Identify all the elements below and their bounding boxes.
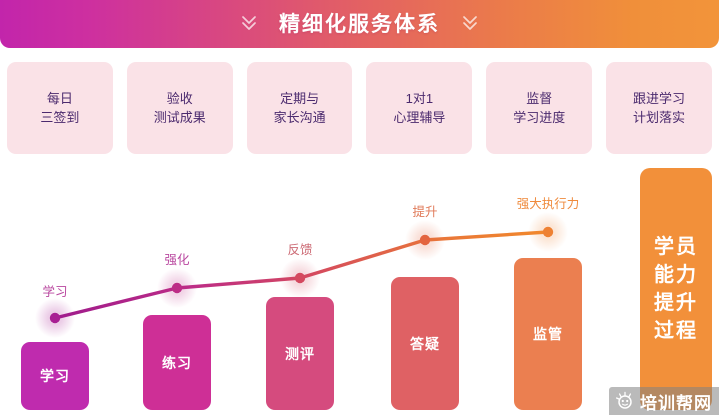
chart-bar[interactable]: 学习 [21, 342, 89, 410]
header-banner-inner: 精细化服务体系 [239, 8, 480, 38]
chart-bar-label: 练习 [162, 353, 192, 373]
chart-bar[interactable]: 监管 [514, 258, 582, 410]
chart-bar[interactable]: 练习 [143, 315, 211, 410]
data-point-marker[interactable] [50, 313, 60, 323]
service-card[interactable]: 定期与 家长沟通 [247, 62, 353, 154]
chart-bar-label: 测评 [285, 344, 315, 364]
summary-panel-line: 过程 [654, 317, 698, 345]
data-point-marker[interactable] [295, 273, 305, 283]
header-banner: 精细化服务体系 [0, 0, 719, 48]
data-point-label: 强化 [164, 249, 189, 268]
sun-face-icon [615, 391, 635, 411]
summary-panel-line: 提升 [654, 289, 698, 317]
service-card-line2: 计划落实 [633, 108, 685, 127]
chart-bar-label: 学习 [40, 366, 70, 386]
chart-bar-label: 答疑 [410, 334, 440, 354]
service-card[interactable]: 监督 学习进度 [486, 62, 592, 154]
data-point-marker[interactable] [420, 235, 430, 245]
data-point-marker[interactable] [172, 283, 182, 293]
watermark-text: 培训帮网 [640, 389, 712, 414]
service-card[interactable]: 1对1 心理辅导 [366, 62, 472, 154]
service-card-line2: 学习进度 [513, 108, 565, 127]
summary-panel-line: 学员 [654, 233, 698, 261]
data-point-marker[interactable] [543, 227, 553, 237]
service-card-line1: 每日 [47, 89, 73, 108]
service-card-line1: 监督 [526, 89, 552, 108]
double-chevron-down-icon-left [239, 13, 259, 33]
service-card-line1: 定期与 [280, 89, 319, 108]
service-card[interactable]: 每日 三签到 [7, 62, 113, 154]
trend-line-svg [0, 155, 719, 415]
service-card-line2: 测试成果 [154, 108, 206, 127]
chart-bar[interactable]: 答疑 [391, 277, 459, 410]
chart-bar[interactable]: 测评 [266, 297, 334, 410]
service-card-line1: 验收 [167, 89, 193, 108]
service-card-line2: 心理辅导 [393, 108, 445, 127]
data-point-label: 反馈 [287, 239, 312, 258]
service-card-line2: 家长沟通 [274, 108, 326, 127]
summary-panel[interactable]: 学员 能力 提升 过程 [640, 168, 712, 410]
data-point-label: 提升 [412, 201, 437, 220]
watermark: 培训帮网 [609, 387, 719, 415]
service-card-line2: 三签到 [40, 108, 79, 127]
summary-panel-line: 能力 [654, 261, 698, 289]
progress-chart: 学习 强化 反馈 提升 强大执行力 学习 练习 测评 答疑 监管 学员 能力 提… [0, 155, 719, 415]
service-card-line1: 1对1 [406, 89, 433, 108]
service-card-row: 每日 三签到 验收 测试成果 定期与 家长沟通 1对1 心理辅导 监督 学习进度… [7, 62, 712, 154]
page-root: 精细化服务体系 每日 三签到 验收 测试成果 定期与 家长沟通 1对1 心理辅导 [0, 0, 719, 415]
service-card[interactable]: 跟进学习 计划落实 [606, 62, 712, 154]
service-card-line1: 跟进学习 [633, 89, 685, 108]
data-point-label: 强大执行力 [517, 193, 580, 212]
service-card[interactable]: 验收 测试成果 [127, 62, 233, 154]
data-point-label: 学习 [42, 281, 67, 300]
double-chevron-down-icon-right [460, 13, 480, 33]
chart-bar-label: 监管 [533, 324, 563, 344]
page-title: 精细化服务体系 [279, 8, 440, 38]
